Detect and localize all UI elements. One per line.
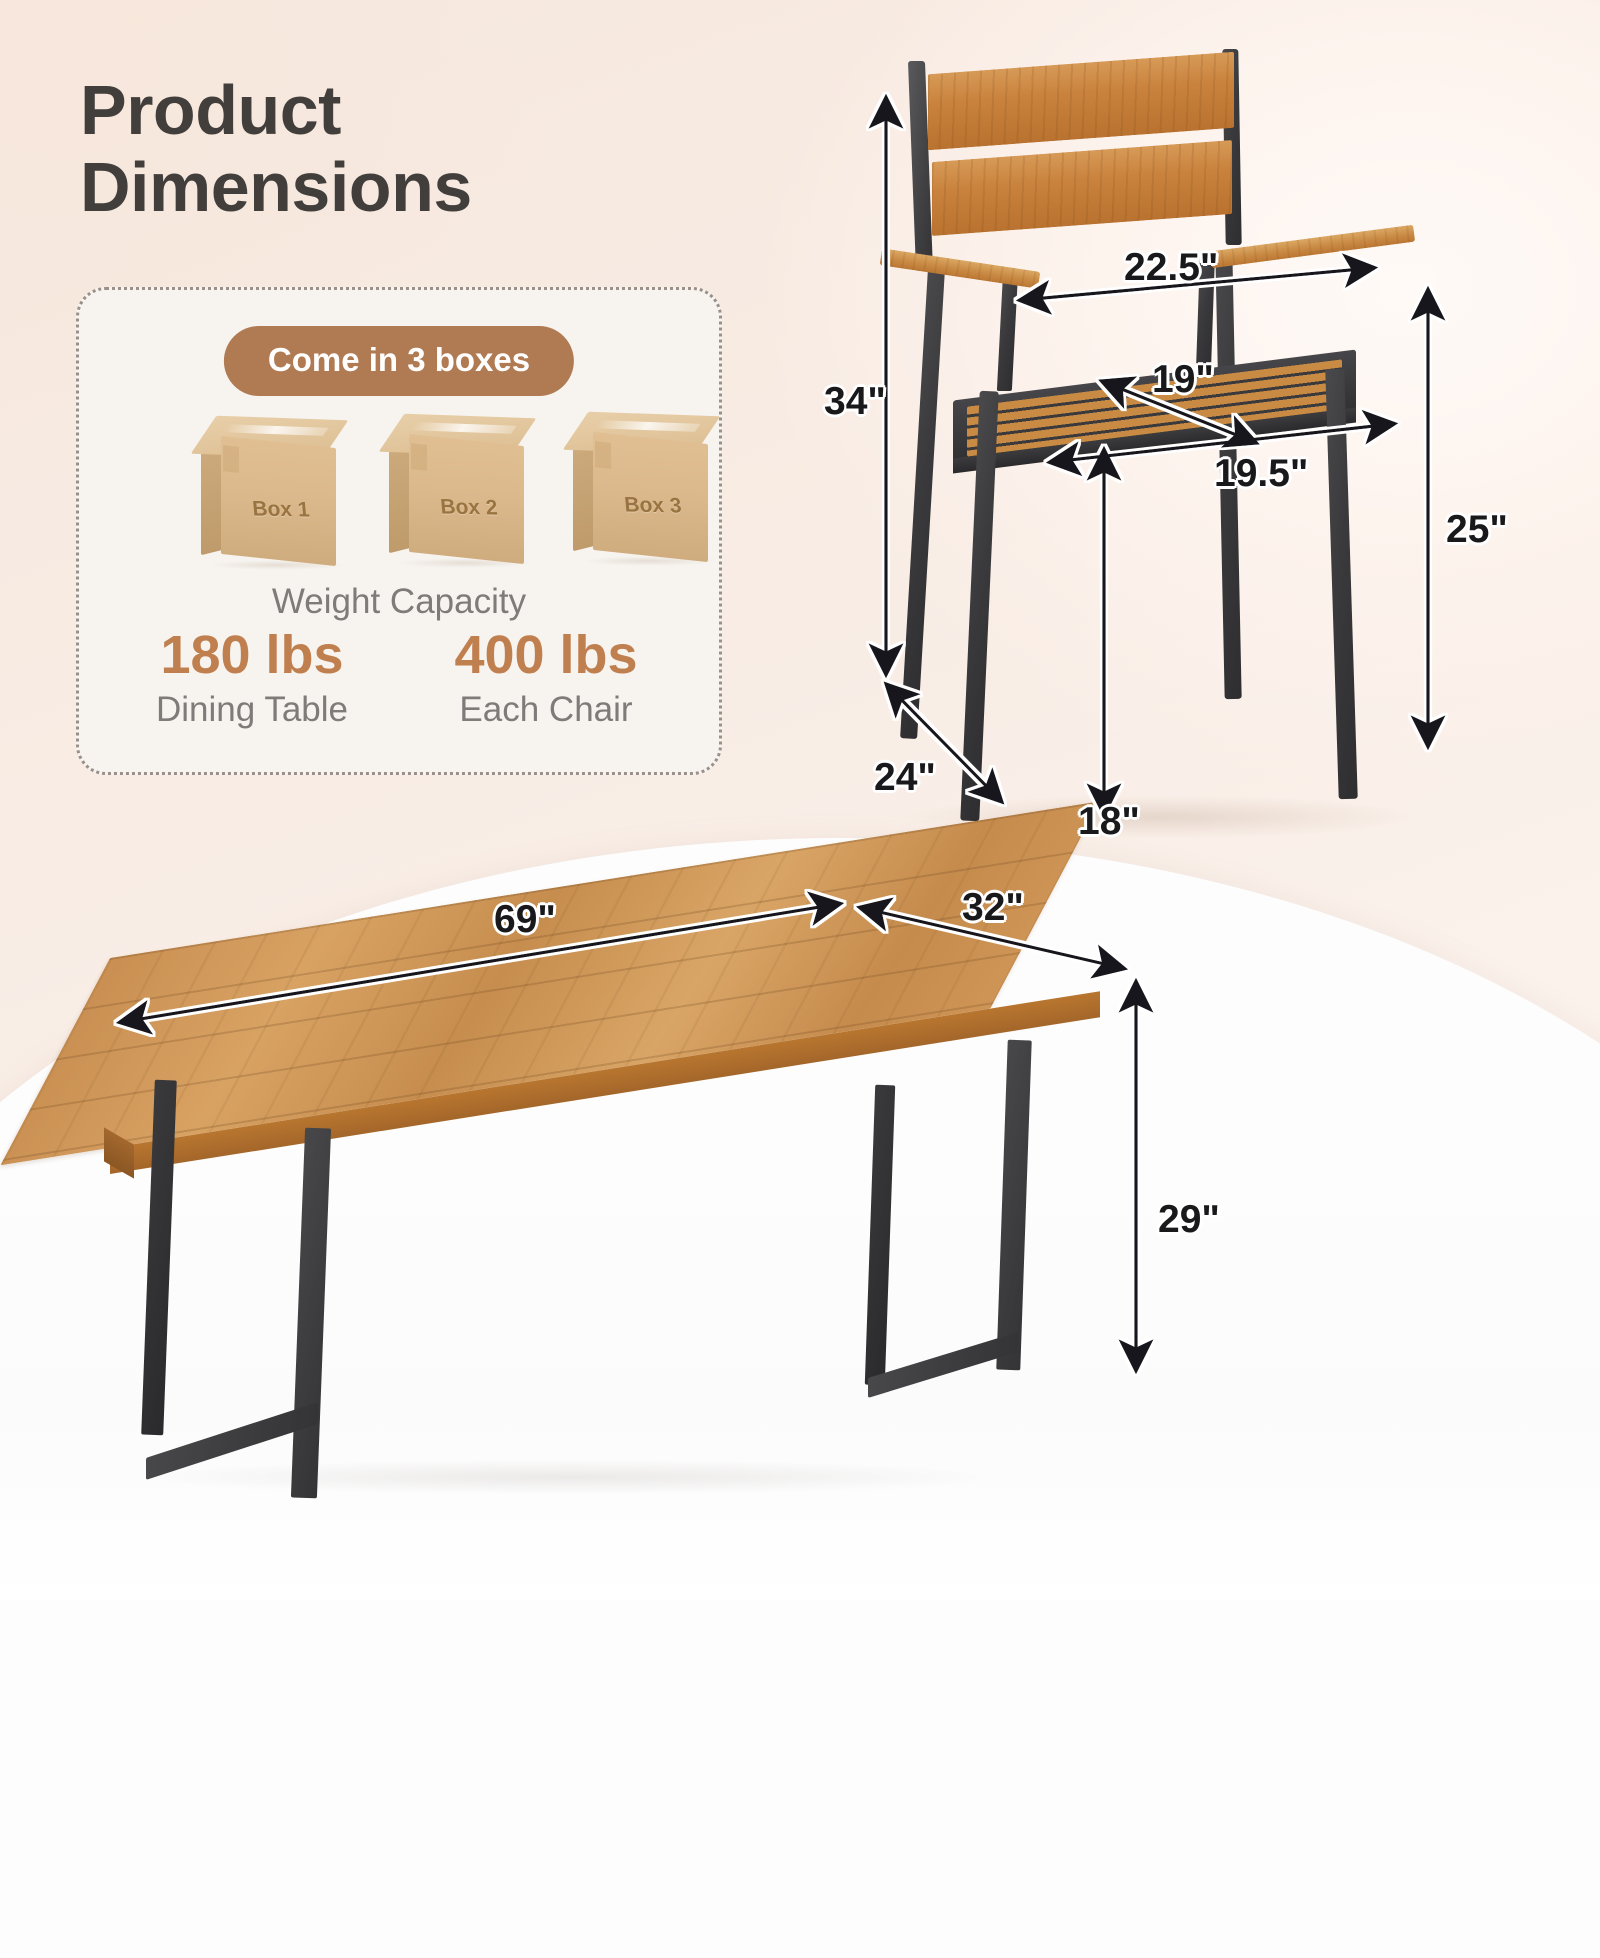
dimension-label-seat-height: 18" xyxy=(1078,800,1140,844)
chair-armrest-left xyxy=(880,248,1041,288)
capacity-value: 400 lbs xyxy=(411,626,681,684)
table-leg-right-back xyxy=(865,1085,895,1386)
box-label: Box 2 xyxy=(416,495,522,521)
box-label: Box 3 xyxy=(600,493,706,519)
dimension-label-table-width: 32" xyxy=(962,886,1024,930)
chair-leg-back-left xyxy=(900,269,945,739)
capacity-item-chair: 400 lbs Each Chair xyxy=(411,626,681,730)
weight-capacity-group: 180 lbs Dining Table 400 lbs Each Chair xyxy=(105,626,693,730)
box-flap xyxy=(595,441,611,469)
packaging-info-card: Come in 3 boxes Box 1 Box 2 xyxy=(76,287,722,775)
dimension-label-chair-arm-width: 22.5" xyxy=(1124,246,1218,290)
box-flap xyxy=(223,445,239,473)
dimension-label-chair-height: 34" xyxy=(824,380,886,424)
cardboard-box-icon: Box 1 xyxy=(199,412,359,564)
cardboard-box-icon: Box 2 xyxy=(387,410,547,562)
infographic-canvas: Product Dimensions Come in 3 boxes Box 1 xyxy=(0,0,1600,1600)
box-label: Box 1 xyxy=(228,497,334,523)
dimension-label-table-length: 69" xyxy=(494,898,556,942)
chair-arm-post-left xyxy=(997,271,1018,391)
weight-capacity-title: Weight Capacity xyxy=(79,582,719,622)
dimension-label-seat-depth: 19" xyxy=(1152,358,1214,402)
capacity-caption: Each Chair xyxy=(411,690,681,730)
capacity-item-table: 180 lbs Dining Table xyxy=(117,626,387,730)
chair-backrest-slat-bottom xyxy=(932,140,1232,236)
page-title-line-2: Dimensions xyxy=(80,149,472,226)
cardboard-box-icon: Box 3 xyxy=(571,408,731,560)
boxes-count-badge: Come in 3 boxes xyxy=(224,326,574,396)
box-illustration-group: Box 1 Box 2 Box 3 xyxy=(79,412,719,572)
chair-illustration xyxy=(860,55,1500,855)
chair-backrest-slat-top xyxy=(928,52,1234,150)
page-title: Product Dimensions xyxy=(80,72,472,226)
page-title-line-1: Product xyxy=(80,72,472,149)
table-shadow xyxy=(140,1460,1000,1494)
dimension-label-table-height: 29" xyxy=(1158,1198,1220,1242)
table-illustration xyxy=(70,900,1190,1540)
chair-leg-front-right xyxy=(1325,369,1357,799)
capacity-caption: Dining Table xyxy=(117,690,387,730)
dimension-label-chair-side-height: 25" xyxy=(1446,508,1508,552)
table-leg-left-front xyxy=(291,1128,331,1499)
box-flap xyxy=(411,443,427,471)
dimension-label-chair-depth: 24" xyxy=(874,756,936,800)
capacity-value: 180 lbs xyxy=(117,626,387,684)
table-leg-right-front xyxy=(996,1040,1032,1371)
dimension-label-seat-width: 19.5" xyxy=(1214,452,1308,496)
